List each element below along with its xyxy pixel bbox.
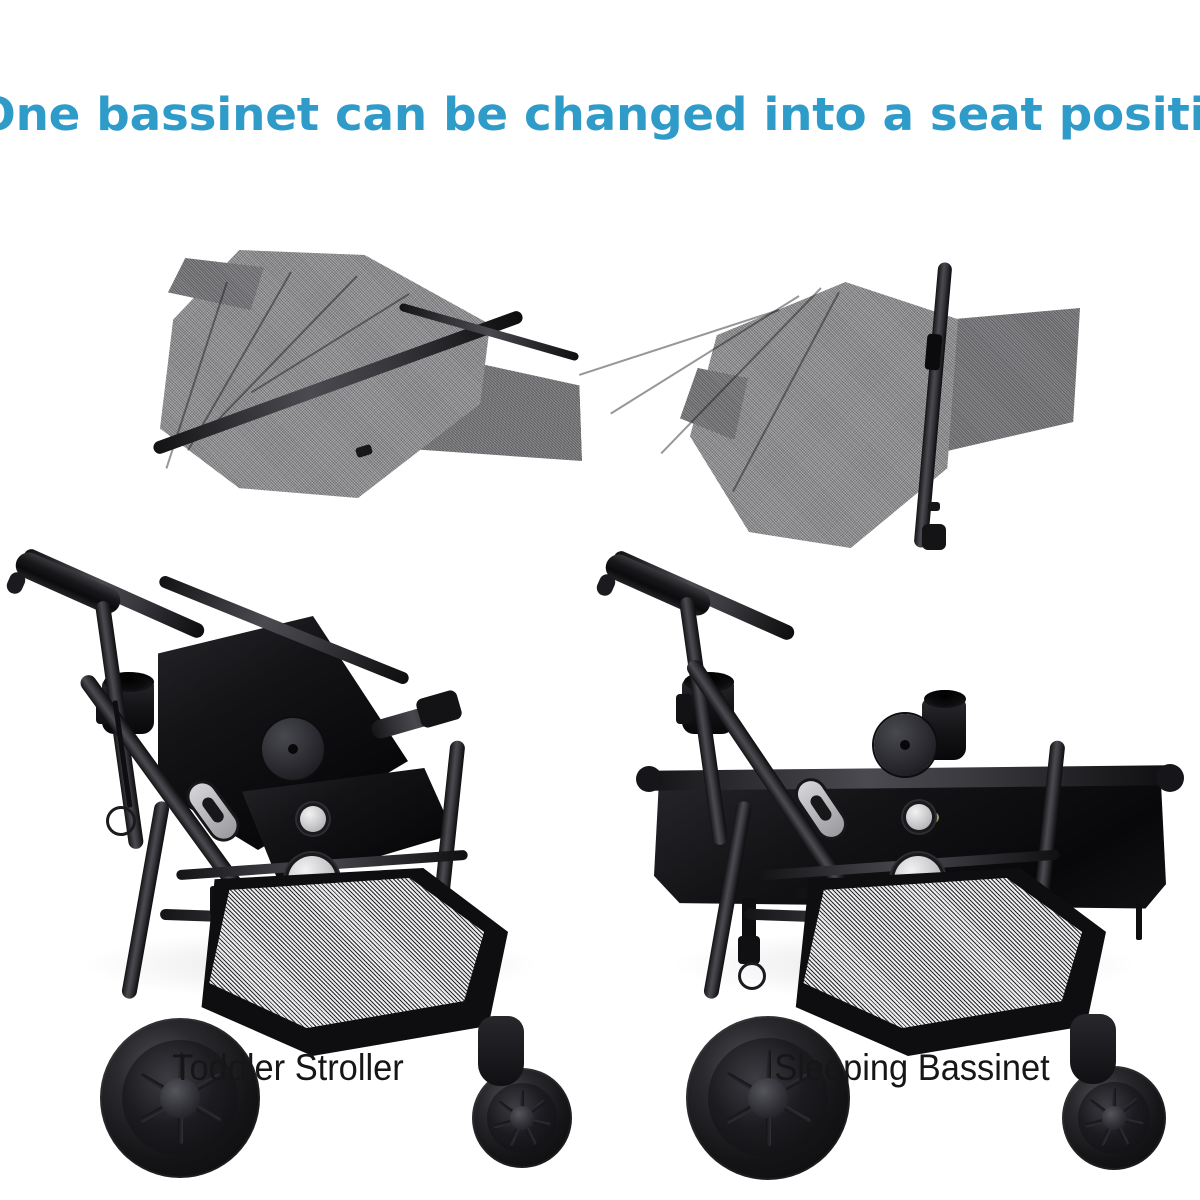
rear-wheel	[686, 1016, 850, 1180]
tether-ring	[106, 806, 136, 836]
caption-toddler-stroller: Toddler Stroller	[9, 1047, 567, 1089]
adjuster-disc-small[interactable]	[300, 806, 326, 832]
frame-pivot-center	[288, 744, 298, 754]
product-image-sleeping-bassinet	[600, 230, 1200, 1030]
storage-basket	[776, 868, 1106, 1056]
page-title: One bassinet can be changed into a seat …	[0, 88, 1200, 141]
front-wheel-hubcap	[510, 1106, 534, 1130]
infographic-page: One bassinet can be changed into a seat …	[0, 0, 1200, 1200]
product-image-toddler-stroller	[0, 230, 600, 1030]
caption-sleeping-bassinet: Sleeping Bassinet	[633, 1047, 1191, 1089]
canopy-tab	[928, 502, 940, 511]
stroller-illustration-seat	[0, 230, 600, 1030]
canopy-assembly	[670, 248, 1070, 548]
adjuster-disc-small[interactable]	[906, 804, 932, 830]
product-comparison	[0, 230, 1200, 1030]
rear-wheel	[100, 1018, 260, 1178]
storage-basket	[182, 868, 508, 1056]
stroller-illustration-bassinet	[600, 230, 1200, 1030]
canopy-assembly	[150, 250, 570, 540]
frame-pivot-center	[900, 740, 910, 750]
canopy-bow-slider[interactable]	[924, 333, 942, 370]
canopy-bow-endcap	[922, 524, 946, 550]
frame-rear-leg	[703, 800, 753, 1000]
front-wheel-hubcap	[1102, 1106, 1126, 1130]
canopy-visor-fold	[168, 258, 264, 310]
